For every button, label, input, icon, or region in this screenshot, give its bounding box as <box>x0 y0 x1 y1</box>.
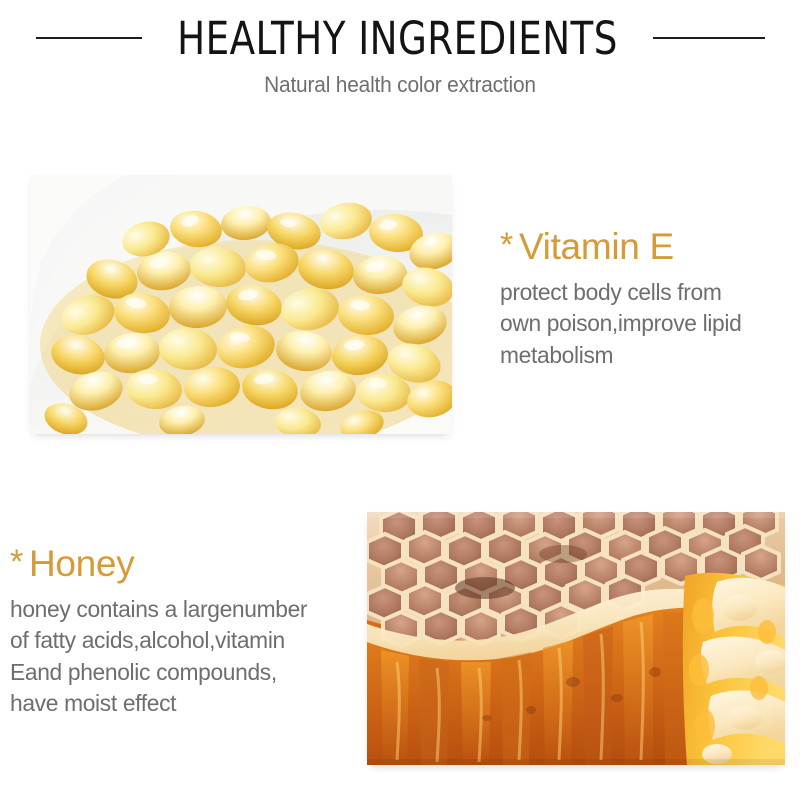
title-row: HEALTHY INGREDIENTS <box>0 12 800 64</box>
ingredient-body-honey: honey contains a largenumber of fatty ac… <box>10 594 359 720</box>
honeycomb-photo <box>367 512 785 765</box>
body-line: honey contains a largenumber <box>10 594 359 626</box>
ingredient-heading-honey: *Honey <box>10 545 370 584</box>
honeycomb-illustration <box>367 512 785 765</box>
body-line: protect body cells from <box>500 277 791 309</box>
asterisk-icon: * <box>500 226 513 264</box>
title-rule-right <box>653 37 765 39</box>
ingredient-section-honey: *Honey honey contains a largenumber of f… <box>10 545 370 720</box>
header: HEALTHY INGREDIENTS Natural health color… <box>0 0 800 120</box>
body-line: have moist effect <box>10 688 359 720</box>
body-line: own poison,improve lipid <box>500 308 791 340</box>
page-title: HEALTHY INGREDIENTS <box>177 16 618 61</box>
vitamin-e-capsules-photo <box>30 175 452 434</box>
ingredient-heading-vitamin-e: *Vitamin E <box>500 228 800 267</box>
body-line: of fatty acids,alcohol,vitamin <box>10 625 359 657</box>
capsules-illustration <box>30 175 452 434</box>
ingredient-body-vitamin-e: protect body cells from own poison,impro… <box>500 277 791 372</box>
page-subtitle: Natural health color extraction <box>20 72 780 98</box>
asterisk-icon: * <box>10 543 23 581</box>
ingredient-heading-label: Vitamin E <box>519 226 674 267</box>
title-rule-left <box>36 37 142 39</box>
ingredient-heading-label: Honey <box>29 543 134 584</box>
ingredient-section-vitamin-e: *Vitamin E protect body cells from own p… <box>500 228 800 371</box>
body-line: metabolism <box>500 340 791 372</box>
body-line: Eand phenolic compounds, <box>10 657 359 689</box>
